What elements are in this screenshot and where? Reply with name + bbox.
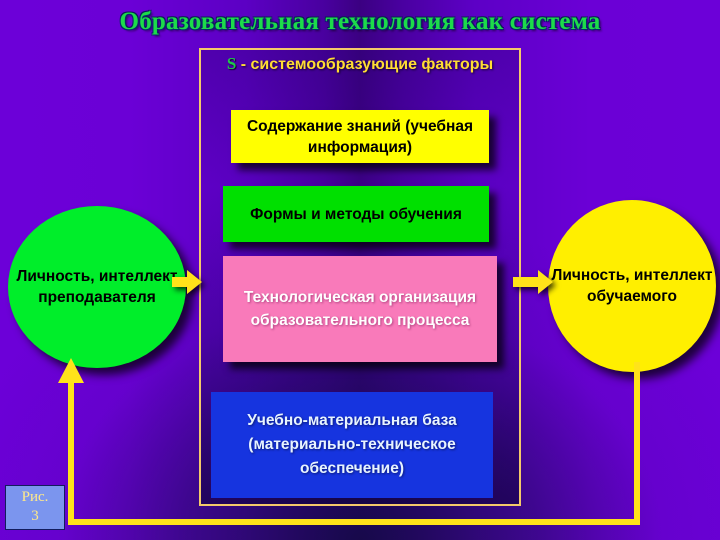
panel-heading: S - системообразующие факторы — [199, 54, 521, 75]
ellipse-student-label: Личность, интеллект обучаемого — [551, 265, 712, 307]
box-content-of-knowledge-label: Содержание знаний (учебная информация) — [231, 116, 489, 158]
box-forms-and-methods[interactable]: Формы и методы обучения — [223, 186, 489, 242]
arrow-right-icon-teacher-to-panel — [172, 277, 188, 287]
feedback-loop-bottom-segment — [68, 519, 640, 525]
box-content-of-knowledge[interactable]: Содержание знаний (учебная информация) — [231, 110, 489, 163]
box-material-base[interactable]: Учебно-материальная база (материально-те… — [211, 392, 493, 498]
box-technological-organization-label: Технологическая организация образователь… — [223, 286, 497, 332]
feedback-loop-left-segment — [68, 378, 74, 525]
panel-heading-label: - системообразующие факторы — [236, 56, 493, 73]
box-forms-and-methods-label: Формы и методы обучения — [223, 204, 489, 225]
figure-caption-line2: 3 — [6, 507, 64, 526]
ellipse-teacher-label: Личность, интеллект преподавателя — [12, 266, 183, 308]
ellipse-student[interactable]: Личность, интеллект обучаемого — [548, 200, 716, 372]
box-material-base-label: Учебно-материальная база (материально-те… — [211, 409, 493, 481]
arrow-right-icon-panel-to-student — [513, 277, 539, 287]
feedback-loop-right-segment — [634, 362, 640, 525]
box-technological-organization[interactable]: Технологическая организация образователь… — [223, 256, 497, 362]
page-title: Образовательная технология как система — [0, 8, 720, 36]
s-symbol: S — [227, 54, 236, 73]
slide-canvas: Образовательная технология как система S… — [0, 0, 720, 540]
figure-caption-line1: Рис. — [6, 488, 64, 507]
ellipse-teacher[interactable]: Личность, интеллект преподавателя — [8, 206, 186, 368]
figure-caption: Рис. 3 — [5, 485, 65, 530]
arrow-up-icon-feedback — [58, 358, 84, 383]
